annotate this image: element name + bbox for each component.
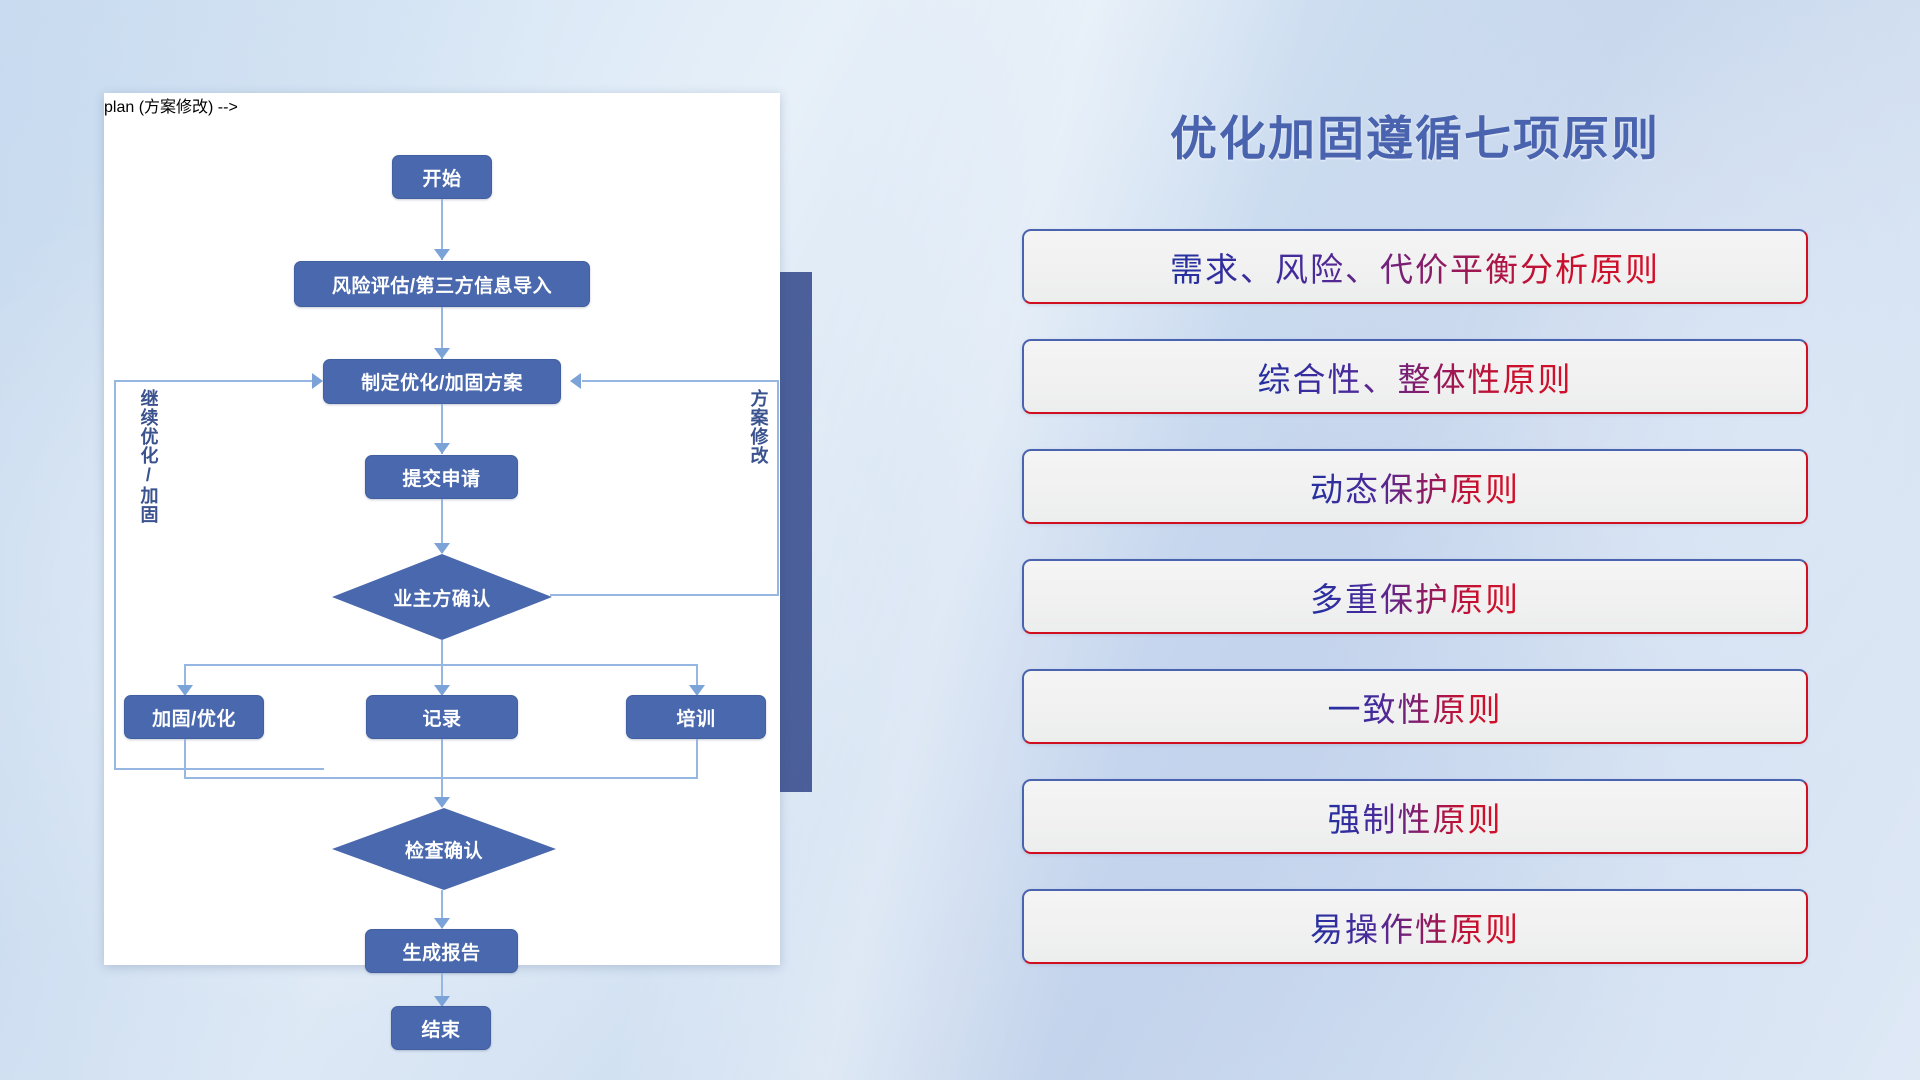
arrow-right-loop-into-plan xyxy=(570,373,581,389)
flow-node-owner-confirm[interactable]: 业主方确认 xyxy=(332,554,552,640)
flow-node-record[interactable]: 记录 xyxy=(366,695,518,739)
flow-node-training-label: 培训 xyxy=(676,704,715,731)
flow-node-owner-confirm-label: 业主方确认 xyxy=(393,584,491,611)
flow-node-generate-report-label: 生成报告 xyxy=(402,938,480,965)
connector-record-down xyxy=(441,739,443,806)
principle-card-3[interactable]: 动态保护原则 xyxy=(1022,449,1808,524)
arrow-submit-to-owner xyxy=(434,543,450,554)
principles-card-list: 需求、风险、代价平衡分析原则 综合性、整体性原则 动态保护原则 多重保护原则 一… xyxy=(1022,229,1808,999)
flow-node-risk-assessment[interactable]: 风险评估/第三方信息导入 xyxy=(294,261,590,307)
flow-edge-label-left-loop: 继续优化/加固 xyxy=(138,389,157,524)
arrow-risk-to-plan xyxy=(434,348,450,359)
principle-card-7[interactable]: 易操作性原则 xyxy=(1022,889,1808,964)
principle-card-5-label: 一致性原则 xyxy=(1328,683,1503,731)
flowchart-card: 开始 风险评估/第三方信息导入 制定优化/加固方案 提交申请 业主方确认 xyxy=(104,93,780,965)
flow-node-inspect-confirm-label: 检查确认 xyxy=(405,836,483,863)
connector-owner-down-stub xyxy=(441,640,443,665)
flow-node-submit-application-label: 提交申请 xyxy=(402,464,480,491)
principles-title: 优化加固遵循七项原则 xyxy=(1010,100,1820,169)
flow-node-start[interactable]: 开始 xyxy=(392,155,492,199)
flow-node-end[interactable]: 结束 xyxy=(391,1006,491,1050)
principles-panel: 优化加固遵循七项原则 需求、风险、代价平衡分析原则 综合性、整体性原则 动态保护… xyxy=(1010,100,1820,1000)
flow-node-risk-assessment-label: 风险评估/第三方信息导入 xyxy=(332,271,552,298)
connector-right-loop-vertical xyxy=(777,380,779,595)
flow-node-submit-application[interactable]: 提交申请 xyxy=(365,455,518,499)
flow-node-record-label: 记录 xyxy=(422,704,461,731)
arrow-plan-to-submit xyxy=(434,443,450,454)
principle-card-1[interactable]: 需求、风险、代价平衡分析原则 xyxy=(1022,229,1808,304)
flow-node-make-plan[interactable]: 制定优化/加固方案 xyxy=(323,359,561,404)
flow-node-reinforce-optimize-label: 加固/优化 xyxy=(152,704,236,731)
flow-node-make-plan-label: 制定优化/加固方案 xyxy=(361,368,523,395)
principle-card-1-label: 需求、风险、代价平衡分析原则 xyxy=(1170,243,1660,291)
flow-node-reinforce-optimize[interactable]: 加固/优化 xyxy=(124,695,264,739)
flow-node-end-label: 结束 xyxy=(421,1015,460,1042)
connector-training-down xyxy=(696,739,698,778)
flow-node-start-label: 开始 xyxy=(422,164,461,191)
connector-left-loop-top xyxy=(114,380,316,382)
principle-card-6[interactable]: 强制性原则 xyxy=(1022,779,1808,854)
connector-right-loop-top xyxy=(582,380,779,382)
principle-card-6-label: 强制性原则 xyxy=(1328,793,1503,841)
flow-node-generate-report[interactable]: 生成报告 xyxy=(365,929,518,973)
principle-card-4-label: 多重保护原则 xyxy=(1310,573,1520,621)
connector-left-loop-bottom xyxy=(114,768,324,770)
principle-card-3-label: 动态保护原则 xyxy=(1310,463,1520,511)
principle-card-2-label: 综合性、整体性原则 xyxy=(1258,353,1573,401)
connector-reinforce-down xyxy=(184,739,186,778)
principle-card-2[interactable]: 综合性、整体性原则 xyxy=(1022,339,1808,414)
principle-card-7-label: 易操作性原则 xyxy=(1310,903,1520,951)
arrow-inspect-to-report xyxy=(434,918,450,929)
flow-node-inspect-confirm[interactable]: 检查确认 xyxy=(332,808,556,890)
connector-right-loop-bottom xyxy=(550,594,779,596)
arrow-start-to-risk xyxy=(434,249,450,260)
principle-card-5[interactable]: 一致性原则 xyxy=(1022,669,1808,744)
connector-left-loop-vertical xyxy=(114,380,116,770)
flow-edge-label-right-loop: 方案修改 xyxy=(748,389,767,465)
flow-node-training[interactable]: 培训 xyxy=(626,695,766,739)
principle-card-4[interactable]: 多重保护原则 xyxy=(1022,559,1808,634)
arrow-merge-to-inspect xyxy=(434,797,450,808)
arrow-left-loop-into-plan xyxy=(312,373,323,389)
flowchart-canvas: 开始 风险评估/第三方信息导入 制定优化/加固方案 提交申请 业主方确认 xyxy=(104,93,780,965)
